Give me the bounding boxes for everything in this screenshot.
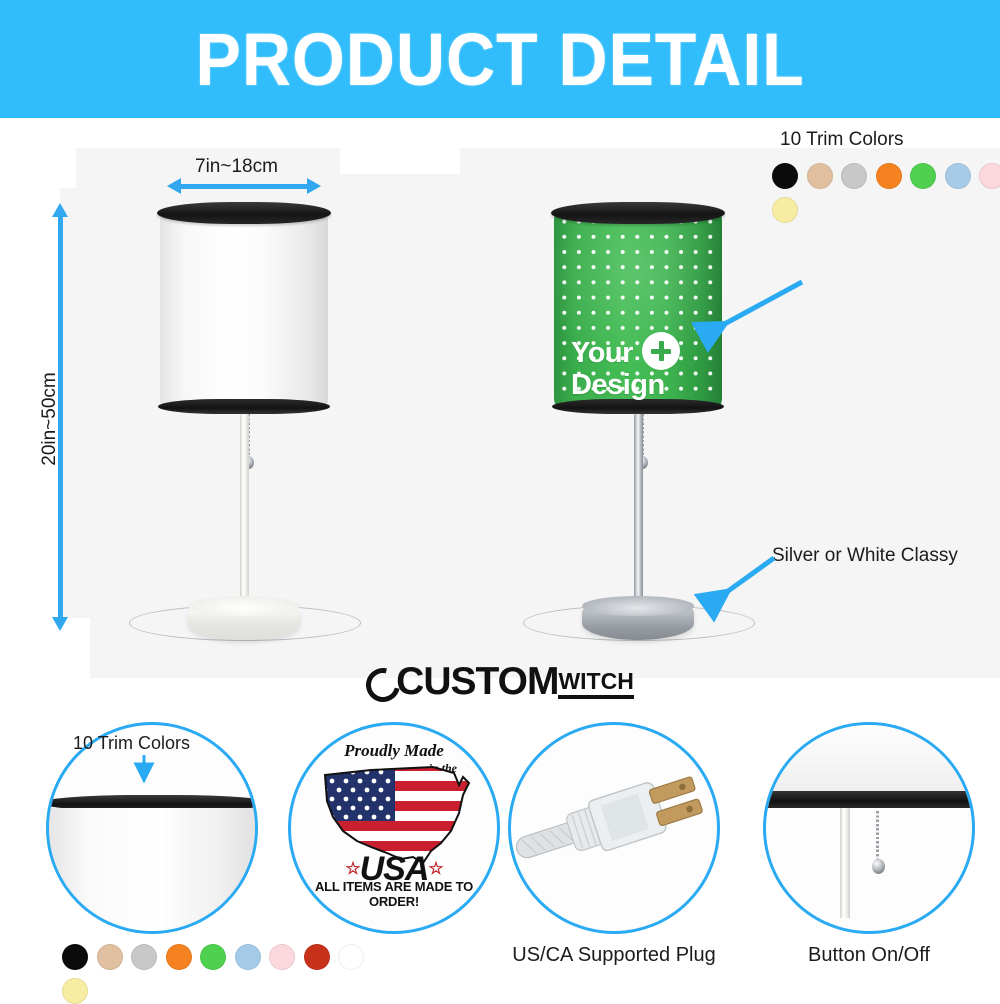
feature-plug: US/CA Supported Plug <box>508 722 720 982</box>
trim-swatch-pink[interactable] <box>269 944 295 970</box>
lamp-pole-silver <box>634 414 643 614</box>
lamp-pole-closeup <box>840 808 850 918</box>
trim-colors-swatch-row-top <box>772 163 1000 223</box>
trim-swatch-black[interactable] <box>772 163 798 189</box>
trim-swatch-green[interactable] <box>200 944 226 970</box>
trim-colors-swatch-row-bottom <box>62 944 380 1004</box>
trim-colors-inner-label: 10 Trim Colors <box>73 733 190 754</box>
lamp-base-silver <box>582 596 694 640</box>
usa-badge-circle: Proudly Made in the <box>288 722 500 934</box>
trim-swatch-pink[interactable] <box>979 163 1000 189</box>
header-banner: PRODUCT DETAIL <box>0 0 1000 118</box>
trim-swatch-yellow[interactable] <box>772 197 798 223</box>
shade-surface <box>160 210 328 408</box>
trim-swatch-light-blue[interactable] <box>235 944 261 970</box>
trim-swatch-gray[interactable] <box>841 163 867 189</box>
lamp-white <box>0 118 500 678</box>
plus-icon <box>642 332 680 370</box>
trim-swatch-red[interactable] <box>304 944 330 970</box>
trim-swatch-orange[interactable] <box>876 163 902 189</box>
onoff-caption: Button On/Off <box>753 944 985 967</box>
usa-badge-art: Proudly Made in the <box>291 725 497 931</box>
feature-trim-colors: 10 Trim Colors <box>40 722 270 1000</box>
feature-made-in-usa: Proudly Made in the <box>288 722 500 934</box>
shade-trim-bottom <box>552 399 724 414</box>
base-finish-arrow <box>700 550 830 630</box>
trim-swatch-tan[interactable] <box>97 944 123 970</box>
design-text-line1: Your <box>571 338 633 368</box>
logo-main-text: CUSTOM <box>396 660 558 704</box>
trim-swatch-green[interactable] <box>910 163 936 189</box>
plug-circle <box>508 722 720 934</box>
shade-bottom-surface <box>763 722 975 791</box>
brand-logo: CUSTOM WITCH <box>0 660 1000 704</box>
pull-chain-closeup[interactable] <box>876 811 879 863</box>
trim-colors-down-arrow <box>136 755 160 787</box>
product-stage: 7in~18cm 20in~50cm Your Design <box>0 118 1000 713</box>
onoff-circle <box>763 722 975 934</box>
lamp-shade-white <box>160 202 328 414</box>
shade-trim-bottom-closeup <box>763 791 974 808</box>
design-text-line2: Design <box>571 370 665 400</box>
trim-swatch-white[interactable] <box>338 944 364 970</box>
shade-trim-bottom <box>158 399 330 414</box>
lamp-base-white <box>188 596 300 640</box>
trim-swatch-gray[interactable] <box>131 944 157 970</box>
feature-button-onoff: Button On/Off <box>763 722 975 982</box>
shade-trim-top <box>157 202 331 224</box>
shade-trim-top <box>551 202 725 224</box>
trim-callout-arrow <box>690 278 820 358</box>
trim-swatch-tan[interactable] <box>807 163 833 189</box>
trim-swatch-yellow[interactable] <box>62 978 88 1004</box>
page-title: PRODUCT DETAIL <box>195 17 804 102</box>
plug-caption: US/CA Supported Plug <box>498 944 730 967</box>
usa-line-made: Proudly Made <box>291 741 497 761</box>
trim-swatch-orange[interactable] <box>166 944 192 970</box>
trim-swatch-light-blue[interactable] <box>945 163 971 189</box>
star-left-icon: ☆ <box>345 859 359 878</box>
base-top-surface <box>582 596 694 616</box>
usa-line-order: ALL ITEMS ARE MADE TO ORDER! <box>291 879 497 909</box>
power-plug-icon <box>511 725 717 931</box>
pull-chain-ball-closeup[interactable] <box>872 859 885 874</box>
base-top-surface <box>188 596 300 616</box>
logo-sub-text: WITCH <box>558 670 633 699</box>
trim-swatch-black[interactable] <box>62 944 88 970</box>
trim-colors-callout-label: 10 Trim Colors <box>780 129 904 151</box>
lamp-pole <box>240 414 249 614</box>
star-right-icon: ☆ <box>428 859 442 878</box>
